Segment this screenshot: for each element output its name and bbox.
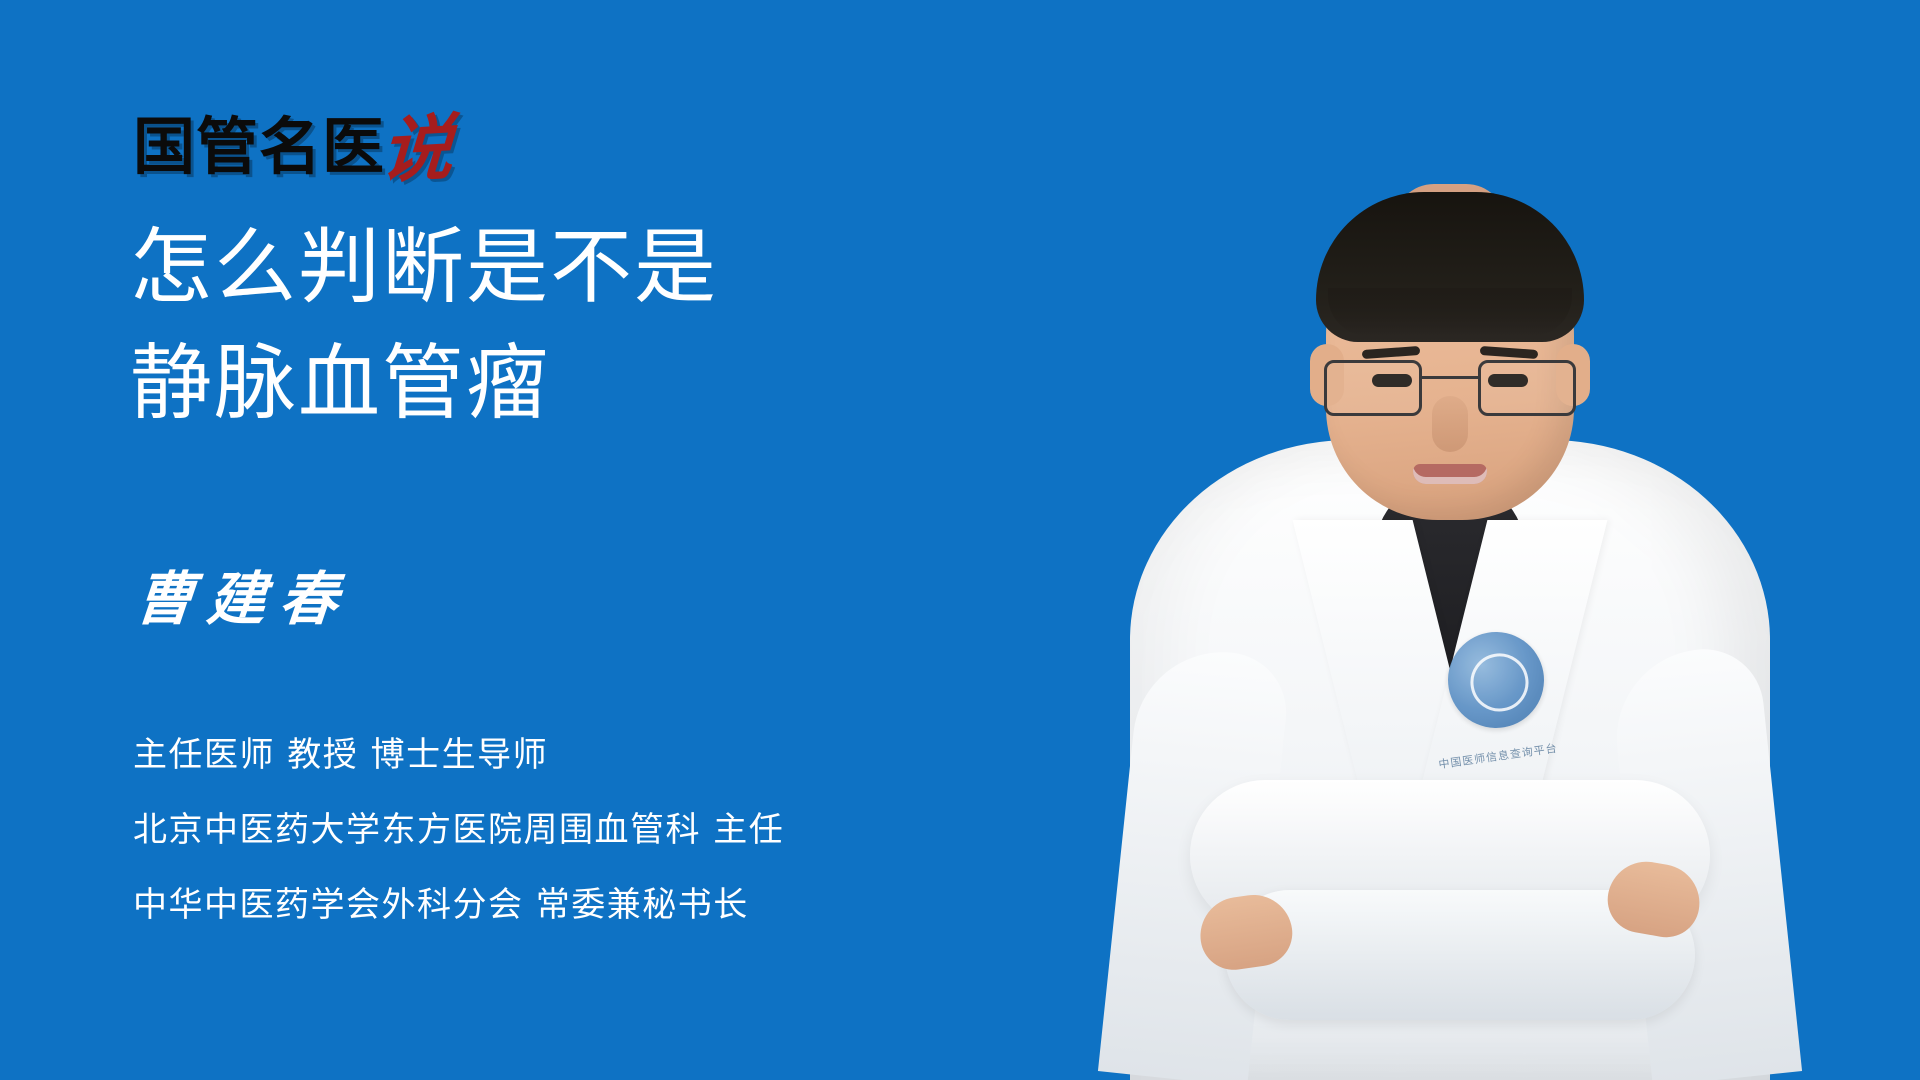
brand-logo-main-text: 国管名医 [133, 116, 385, 178]
doctor-portrait: 中国医师信息查询平台 [1100, 70, 1800, 1080]
doctor-head [1326, 212, 1574, 520]
title-line-2: 静脉血管瘤 [130, 326, 960, 442]
brand-logo-accent-text: 说 [379, 114, 455, 184]
hair [1316, 192, 1584, 342]
eyebrow-left [1362, 346, 1420, 359]
white-coat: 中国医师信息查询平台 [1130, 440, 1770, 1080]
doctor-name: 曹建春 [133, 570, 354, 628]
mouth [1413, 464, 1487, 484]
title-line-1: 怎么判断是不是 [130, 210, 960, 326]
doctor-credentials: 主任医师 教授 博士生导师 北京中医药大学东方医院周围血管科 主任 中华中医药学… [133, 718, 1033, 942]
poster-canvas: 国管名医 说 怎么判断是不是 静脉血管瘤 曹建春 主任医师 教授 博士生导师 北… [0, 0, 1920, 1080]
lens-left [1324, 360, 1422, 416]
eyeglasses-icon [1324, 360, 1576, 420]
credential-line-2: 北京中医药大学东方医院周围血管科 主任 [133, 793, 1033, 868]
glasses-bridge [1422, 376, 1478, 379]
brand-logo: 国管名医 说 [133, 96, 451, 178]
page-title: 怎么判断是不是 静脉血管瘤 [130, 210, 960, 443]
credential-line-3: 中华中医药学会外科分会 常委兼秘书长 [133, 868, 1033, 943]
credential-line-1: 主任医师 教授 博士生导师 [133, 718, 1033, 793]
lens-right [1478, 360, 1576, 416]
eyebrow-right [1480, 346, 1538, 359]
